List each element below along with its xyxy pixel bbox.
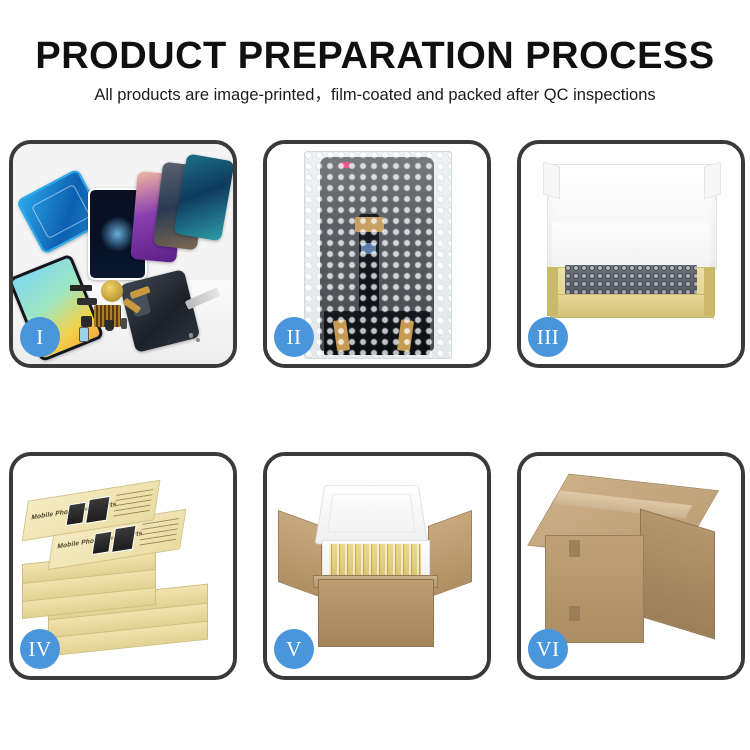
qc-sticker — [340, 162, 351, 169]
carton-seam-upper — [569, 540, 580, 558]
step-badge-4: IV — [20, 629, 60, 669]
page-subtitle: All products are image-printed，film-coat… — [0, 84, 750, 106]
page-header: PRODUCT PREPARATION PROCESS All products… — [0, 0, 750, 132]
step-badge-3: III — [528, 317, 568, 357]
kraft-tray-corner-left — [547, 267, 558, 315]
product-preparation-page: PRODUCT PREPARATION PROCESS All products… — [0, 0, 750, 750]
process-step-panel-6[interactable]: VI — [517, 452, 745, 680]
carton-seam-lower — [569, 606, 580, 621]
kraft-tray-front — [550, 294, 715, 318]
step-badge-2: II — [274, 317, 314, 357]
spare-part-module-b — [105, 320, 114, 331]
process-step-panel-2[interactable]: II — [263, 140, 491, 368]
spare-part-chip — [79, 327, 89, 342]
box-screen-image-a-lower — [92, 530, 113, 555]
step-badge-1: I — [20, 317, 60, 357]
kraft-tray-corner-right — [704, 267, 715, 315]
box-screen-image-a-upper — [66, 502, 87, 527]
process-step-panel-4[interactable]: Mobile Phone Spare Parts Mobile Phone Sp… — [9, 452, 237, 680]
process-step-grid: I II — [9, 140, 741, 680]
process-step-panel-3[interactable]: III — [517, 140, 745, 368]
step-badge-5: V — [274, 629, 314, 669]
screen-driver-chip — [361, 243, 376, 254]
carton-side-face — [640, 508, 715, 638]
spare-part-module-a — [81, 316, 92, 327]
spare-part-bar — [70, 285, 92, 292]
lid-flap-left — [543, 161, 560, 199]
spare-part-screw-b — [196, 338, 200, 342]
carton-front-face — [545, 535, 644, 643]
box-screen-image-b-upper — [85, 496, 111, 525]
carton-body — [318, 579, 434, 647]
process-step-panel-1[interactable]: I — [9, 140, 237, 368]
spare-part-screw-a — [189, 333, 193, 337]
spare-part-flex-cable-a — [77, 298, 97, 305]
process-step-panel-5[interactable]: V — [263, 452, 491, 680]
box-screen-image-b-lower — [111, 524, 137, 553]
step-badge-6: VI — [528, 629, 568, 669]
screen-flex-connector — [355, 217, 384, 232]
page-title: PRODUCT PREPARATION PROCESS — [0, 34, 750, 78]
box-spec-lines-upper — [113, 489, 153, 519]
bubble-wrapped-contents — [565, 265, 697, 294]
lid-flap-right — [704, 161, 721, 199]
spare-part-module-c — [121, 318, 128, 329]
foam-lid — [315, 485, 429, 544]
